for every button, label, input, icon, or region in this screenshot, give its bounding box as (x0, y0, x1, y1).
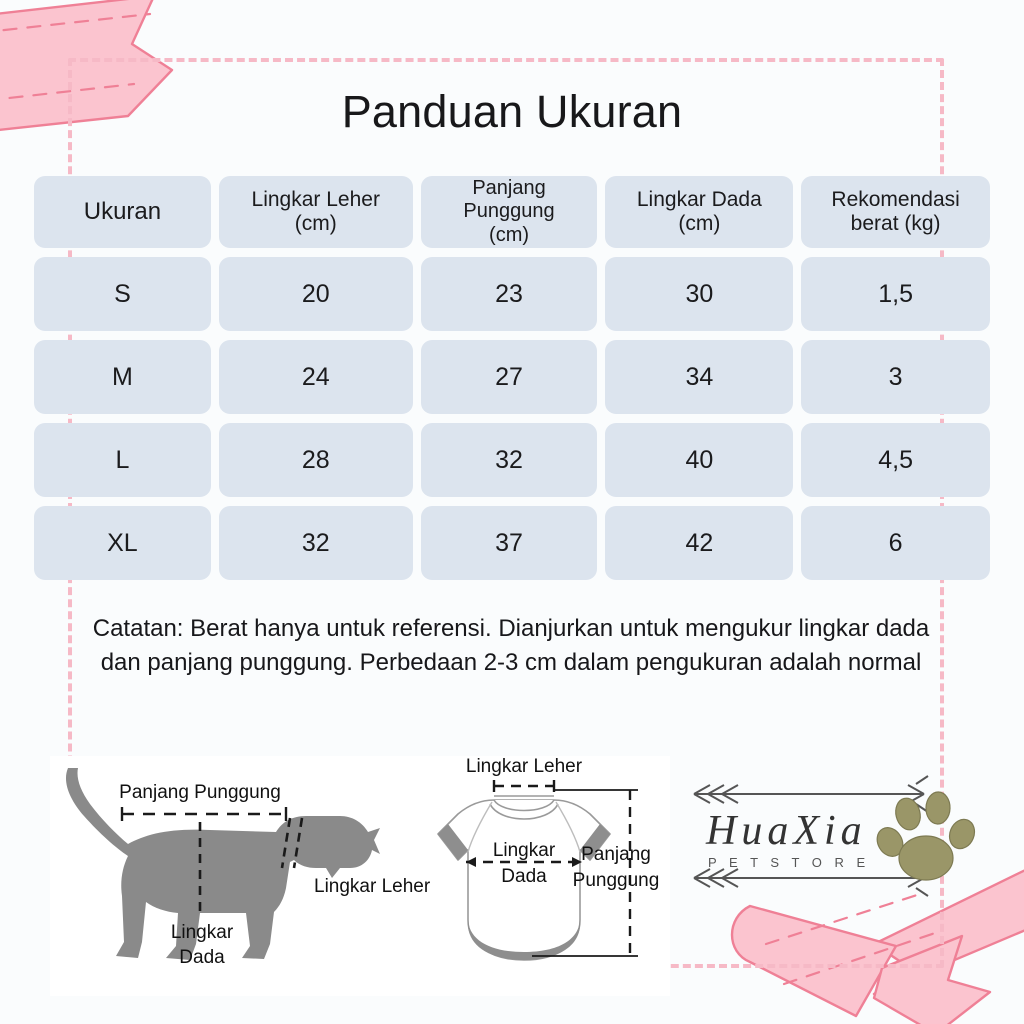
table-row: XL 32 37 42 6 (34, 506, 990, 580)
header-rekomendasi-berat: Rekomendasi berat (kg) (801, 176, 990, 248)
shirt-diagram: Lingkar Leher Lingkar Dada Panjang Pungg… (438, 756, 659, 960)
cell-lingkar-dada: 42 (605, 506, 793, 580)
cell-lingkar-leher: 32 (219, 506, 413, 580)
cat-label-lingkar-leher: Lingkar Leher (314, 876, 431, 897)
shirt-label-panjang-punggung-1: Panjang (581, 844, 651, 865)
cell-lingkar-leher: 28 (219, 423, 413, 497)
shirt-label-lingkar-leher: Lingkar Leher (466, 756, 583, 777)
cell-lingkar-dada: 30 (605, 257, 793, 331)
cat-diagram: Panjang Punggung Lingkar Leher Lingkar D… (66, 768, 431, 968)
size-guide-infographic: Panduan Ukuran Ukuran Lingkar Leher (cm)… (0, 0, 1024, 1024)
cell-ukuran: M (34, 340, 211, 414)
cell-panjang-punggung: 23 (421, 257, 598, 331)
shirt-label-panjang-punggung-2: Punggung (573, 870, 660, 891)
logo-brand-text: HuaXia (705, 808, 867, 854)
cell-ukuran: L (34, 423, 211, 497)
size-table: Ukuran Lingkar Leher (cm) Panjang Punggu… (34, 176, 990, 589)
measurement-note: Catatan: Berat hanya untuk referensi. Di… (78, 612, 944, 680)
table-row: M 24 27 34 3 (34, 340, 990, 414)
cell-lingkar-dada: 34 (605, 340, 793, 414)
header-lingkar-dada: Lingkar Dada (cm) (605, 176, 793, 248)
cat-label-lingkar-dada-1: Lingkar (171, 922, 234, 943)
cell-lingkar-dada: 40 (605, 423, 793, 497)
table-row: S 20 23 30 1,5 (34, 257, 990, 331)
cat-label-panjang-punggung: Panjang Punggung (119, 782, 281, 803)
measurement-diagram-panel: Panjang Punggung Lingkar Leher Lingkar D… (50, 756, 670, 996)
shirt-label-lingkar-dada-1: Lingkar (493, 840, 556, 861)
header-panjang-punggung: Panjang Punggung (cm) (421, 176, 598, 248)
cell-panjang-punggung: 37 (421, 506, 598, 580)
cell-berat: 3 (801, 340, 990, 414)
arrow-top-icon (694, 776, 928, 812)
cell-berat: 4,5 (801, 423, 990, 497)
header-lingkar-leher: Lingkar Leher (cm) (219, 176, 413, 248)
paw-print-icon (872, 792, 976, 880)
cell-berat: 1,5 (801, 257, 990, 331)
shirt-label-lingkar-dada-2: Dada (501, 866, 547, 887)
logo-subtitle-text: P E T S T O R E (708, 855, 870, 870)
cell-lingkar-leher: 24 (219, 340, 413, 414)
table-row: L 28 32 40 4,5 (34, 423, 990, 497)
cell-ukuran: S (34, 257, 211, 331)
cell-lingkar-leher: 20 (219, 257, 413, 331)
cell-panjang-punggung: 32 (421, 423, 598, 497)
brand-logo: HuaXia P E T S T O R E (676, 772, 976, 912)
page-title: Panduan Ukuran (0, 86, 1024, 138)
header-ukuran: Ukuran (34, 176, 211, 248)
cell-ukuran: XL (34, 506, 211, 580)
table-header-row: Ukuran Lingkar Leher (cm) Panjang Punggu… (34, 176, 990, 248)
cat-label-lingkar-dada-2: Dada (179, 947, 225, 968)
cell-berat: 6 (801, 506, 990, 580)
cell-panjang-punggung: 27 (421, 340, 598, 414)
